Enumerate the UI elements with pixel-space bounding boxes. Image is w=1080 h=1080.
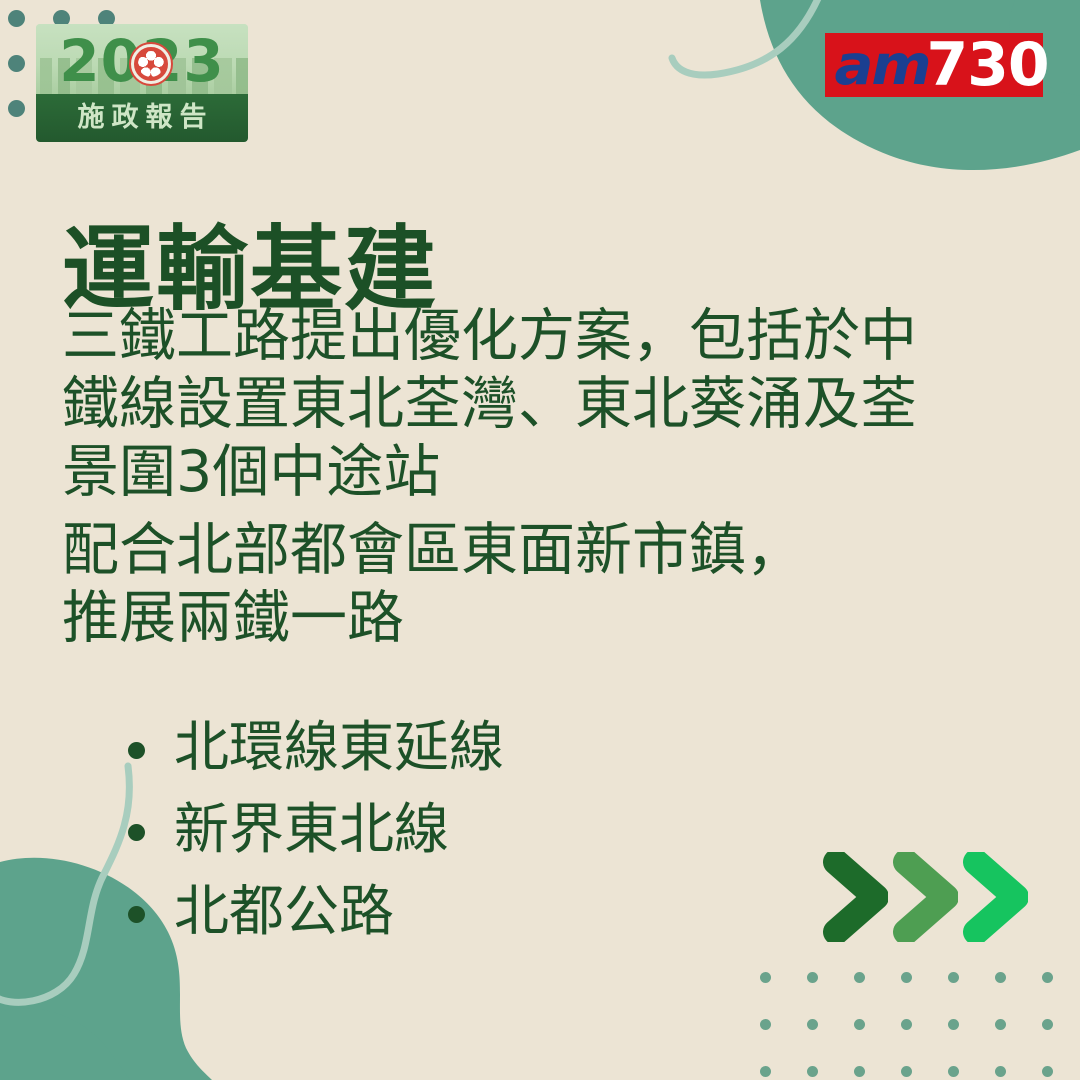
decorative-dot [8, 100, 25, 117]
decorative-dot [760, 1019, 771, 1030]
paragraph-1: 三鐵工路提出優化方案，包括於中 鐵線設置東北荃灣、東北葵涌及荃 景圍3個中途站 [62, 302, 1002, 506]
paragraph-2: 配合北部都會區東面新市鎮， 推展兩鐵一路 [62, 516, 1002, 652]
am730-prefix: am [825, 36, 929, 94]
chevron-right-mid-icon [892, 852, 958, 942]
body-line: 景圍3個中途站 [62, 438, 1002, 506]
list-item: 北環線東延線 [116, 706, 916, 788]
curve-line-bottom-left [0, 766, 129, 1002]
decorative-dot [8, 55, 25, 72]
list-item: 新界東北線 [116, 788, 916, 870]
body-copy: 三鐵工路提出優化方案，包括於中 鐵線設置東北荃灣、東北葵涌及荃 景圍3個中途站 … [62, 302, 1002, 654]
blob-bottom-left-lower [0, 1008, 130, 1080]
list-item: 北都公路 [116, 870, 916, 952]
decorative-dot [901, 972, 912, 983]
body-line: 鐵線設置東北荃灣、東北葵涌及荃 [62, 370, 1002, 438]
poster-canvas: 2023 施政報告 am 730 運輸基建 三鐵工路提出優化方案，包括於中 鐵線… [0, 0, 1080, 1080]
policy-address-logo: 2023 施政報告 [36, 24, 248, 142]
decorative-dot [948, 1019, 959, 1030]
decorative-dot [1042, 1019, 1053, 1030]
chevron-right-bright-icon [962, 852, 1028, 942]
decorative-dot [8, 10, 25, 27]
bauhinia-emblem [131, 44, 171, 84]
body-line: 三鐵工路提出優化方案，包括於中 [62, 302, 1002, 370]
decorative-dot [948, 972, 959, 983]
decorative-dot [948, 1066, 959, 1077]
decorative-dot [854, 1066, 865, 1077]
decorative-dot [995, 1066, 1006, 1077]
am730-logo[interactable]: am 730 [825, 33, 1043, 97]
body-line: 推展兩鐵一路 [62, 584, 1002, 652]
chevron-arrows-group [822, 852, 1034, 942]
decorative-dot [854, 972, 865, 983]
logo-title-band: 施政報告 [36, 94, 248, 142]
decorative-dot [1042, 972, 1053, 983]
decorative-dot [807, 972, 818, 983]
decorative-dot [760, 972, 771, 983]
bullet-list: 北環線東延線 新界東北線 北都公路 [116, 706, 916, 952]
body-line: 配合北部都會區東面新市鎮， [62, 516, 1002, 584]
bauhinia-petals [138, 51, 164, 77]
am730-suffix: 730 [926, 35, 1048, 95]
decorative-dot [901, 1066, 912, 1077]
decorative-dot [995, 972, 1006, 983]
logo-subtitle: 施政報告 [36, 94, 248, 142]
decorative-dot [901, 1019, 912, 1030]
decorative-dot [1042, 1066, 1053, 1077]
decorative-dot [807, 1066, 818, 1077]
decorative-dot [807, 1019, 818, 1030]
decorative-dot [760, 1066, 771, 1077]
decorative-dot [854, 1019, 865, 1030]
curve-line-top-right [672, 0, 820, 75]
decorative-dot [995, 1019, 1006, 1030]
chevron-right-dark-icon [822, 852, 888, 942]
